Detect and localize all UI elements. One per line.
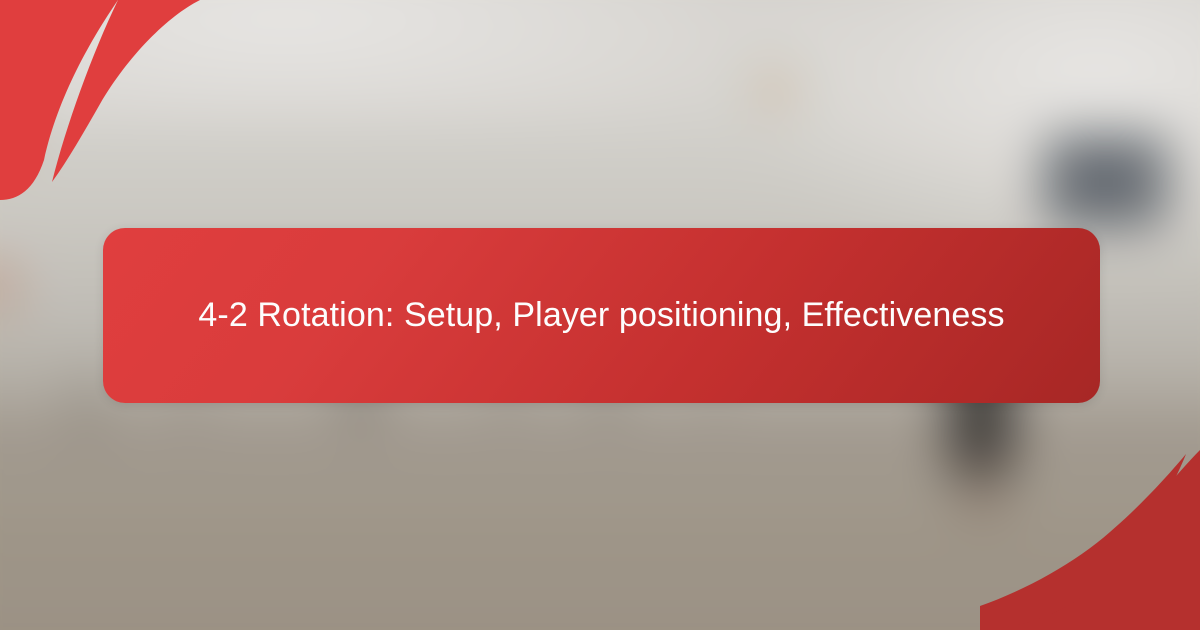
article-banner: 4-2 Rotation: Setup, Player positioning,…: [0, 0, 1200, 630]
title-card: 4-2 Rotation: Setup, Player positioning,…: [103, 228, 1100, 403]
page-title: 4-2 Rotation: Setup, Player positioning,…: [198, 290, 1004, 342]
